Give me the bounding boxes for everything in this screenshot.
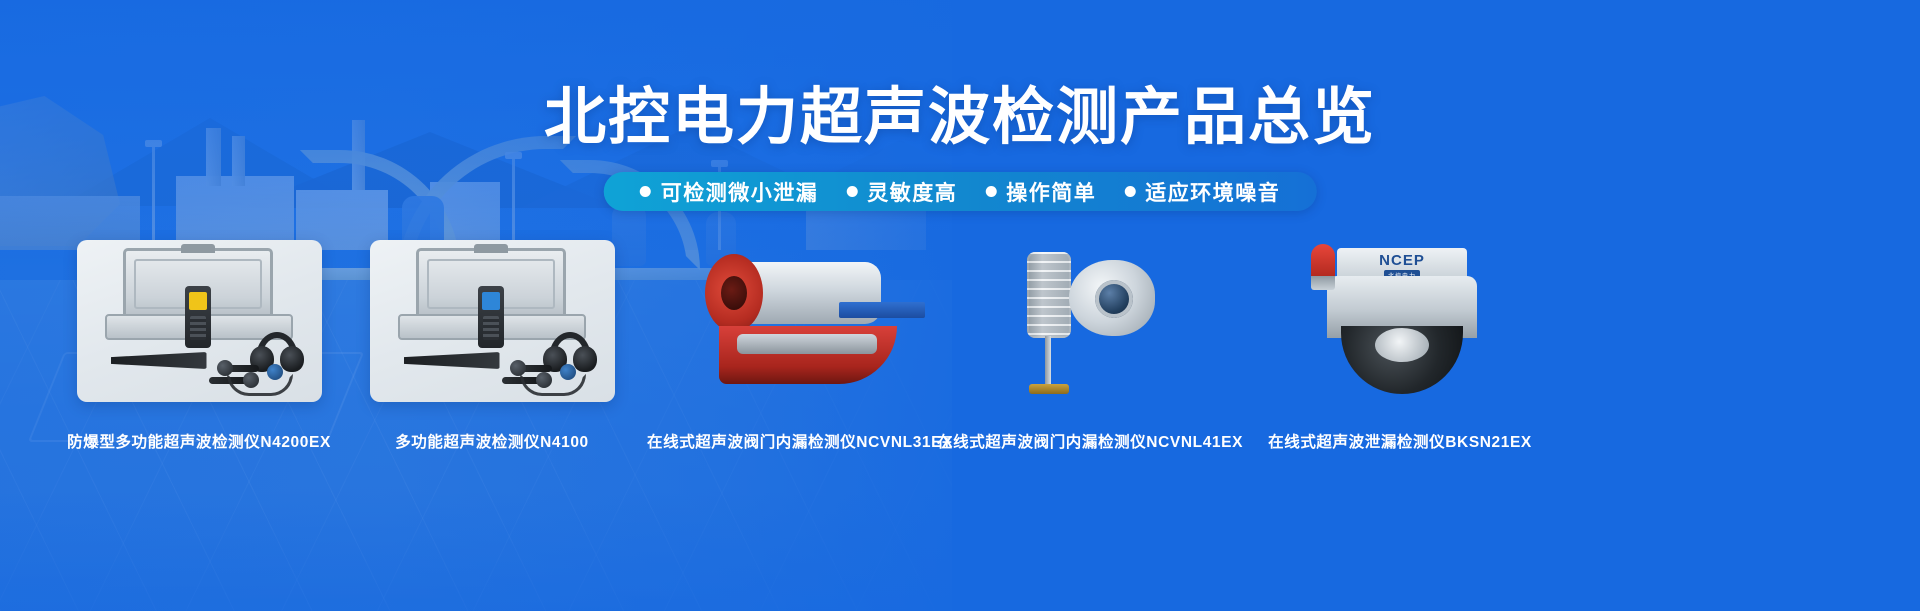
sensor-lens — [1095, 280, 1133, 318]
feature-highlight-bar: 可检测微小泄漏 灵敏度高 操作简单 适应环境噪音 — [604, 172, 1317, 211]
product-card-4[interactable]: 在线式超声波阀门内漏检测仪NCVNL41EX — [950, 240, 1230, 452]
handheld-detector — [185, 286, 211, 348]
red-flange — [705, 254, 763, 332]
brand-band — [839, 302, 925, 318]
device-keypad — [190, 316, 206, 340]
feature-label: 适应环境噪音 — [1145, 177, 1280, 207]
product-image-5: NCEP 北控电力 — [1275, 240, 1525, 410]
handheld-detector — [478, 286, 504, 348]
product-caption-4: 在线式超声波阀门内漏检测仪NCVNL41EX — [937, 430, 1243, 452]
device-keypad — [483, 316, 499, 340]
accessory-knob — [267, 364, 283, 380]
product-card-1[interactable]: 防爆型多功能超声波检测仪N4200EX — [75, 240, 323, 452]
feature-label: 可检测微小泄漏 — [661, 177, 819, 207]
feature-item-4: 适应环境噪音 — [1110, 177, 1294, 207]
device-screen — [482, 292, 500, 310]
alarm-beacon — [1311, 244, 1335, 290]
product-card-5[interactable]: NCEP 北控电力 在线式超声波泄漏检测仪BKSN21EX — [1260, 240, 1540, 452]
promo-banner: 北控电力超声波检测产品总览 可检测微小泄漏 灵敏度高 操作简单 适应环境噪音 — [0, 0, 1920, 611]
feature-item-2: 灵敏度高 — [832, 177, 971, 207]
headphone-cup — [573, 346, 597, 372]
product-image-4 — [965, 240, 1215, 410]
product-image-2 — [370, 240, 615, 402]
bullet-dot-icon — [846, 186, 857, 197]
bullet-dot-icon — [640, 186, 651, 197]
product-caption-5: 在线式超声波泄漏检测仪BKSN21EX — [1268, 430, 1532, 452]
accessory-knob — [510, 360, 526, 376]
accessory-cable — [227, 374, 293, 396]
feature-label: 操作简单 — [1006, 177, 1096, 207]
product-image-1 — [77, 240, 322, 402]
device-screen — [189, 292, 207, 310]
bullet-dot-icon — [985, 186, 996, 197]
product-card-3[interactable]: 在线式超声波阀门内漏检测仪NCVNL31EX — [660, 240, 940, 452]
accessory-cable — [520, 374, 586, 396]
mounting-stem — [1045, 336, 1051, 388]
mounting-base — [719, 326, 897, 384]
product-card-2[interactable]: 多功能超声波检测仪N4100 — [368, 240, 616, 452]
dome-lens — [1341, 326, 1463, 394]
finned-cylinder — [1027, 252, 1071, 338]
product-caption-3: 在线式超声波阀门内漏检测仪NCVNL31EX — [647, 430, 953, 452]
accessory-knob — [560, 364, 576, 380]
page-title: 北控电力超声波检测产品总览 — [0, 66, 1920, 156]
feature-label: 灵敏度高 — [867, 177, 957, 207]
brass-foot — [1029, 384, 1069, 394]
ultrasonic-horn-probe — [404, 352, 500, 369]
brand-name: NCEP — [1337, 252, 1467, 269]
headphone-cup — [280, 346, 304, 372]
feature-item-3: 操作简单 — [971, 177, 1110, 207]
product-caption-2: 多功能超声波检测仪N4100 — [395, 430, 589, 452]
accessory-knob — [536, 372, 552, 388]
bullet-dot-icon — [1124, 186, 1135, 197]
accessory-knob — [243, 372, 259, 388]
ultrasonic-horn-probe — [111, 352, 207, 369]
feature-item-1: 可检测微小泄漏 — [626, 177, 833, 207]
bottom-gradient-overlay — [0, 491, 1920, 611]
product-caption-1: 防爆型多功能超声波检测仪N4200EX — [67, 430, 331, 452]
product-image-3 — [675, 240, 925, 410]
product-gallery: 防爆型多功能超声波检测仪N4200EX — [0, 240, 1920, 470]
accessory-knob — [217, 360, 233, 376]
